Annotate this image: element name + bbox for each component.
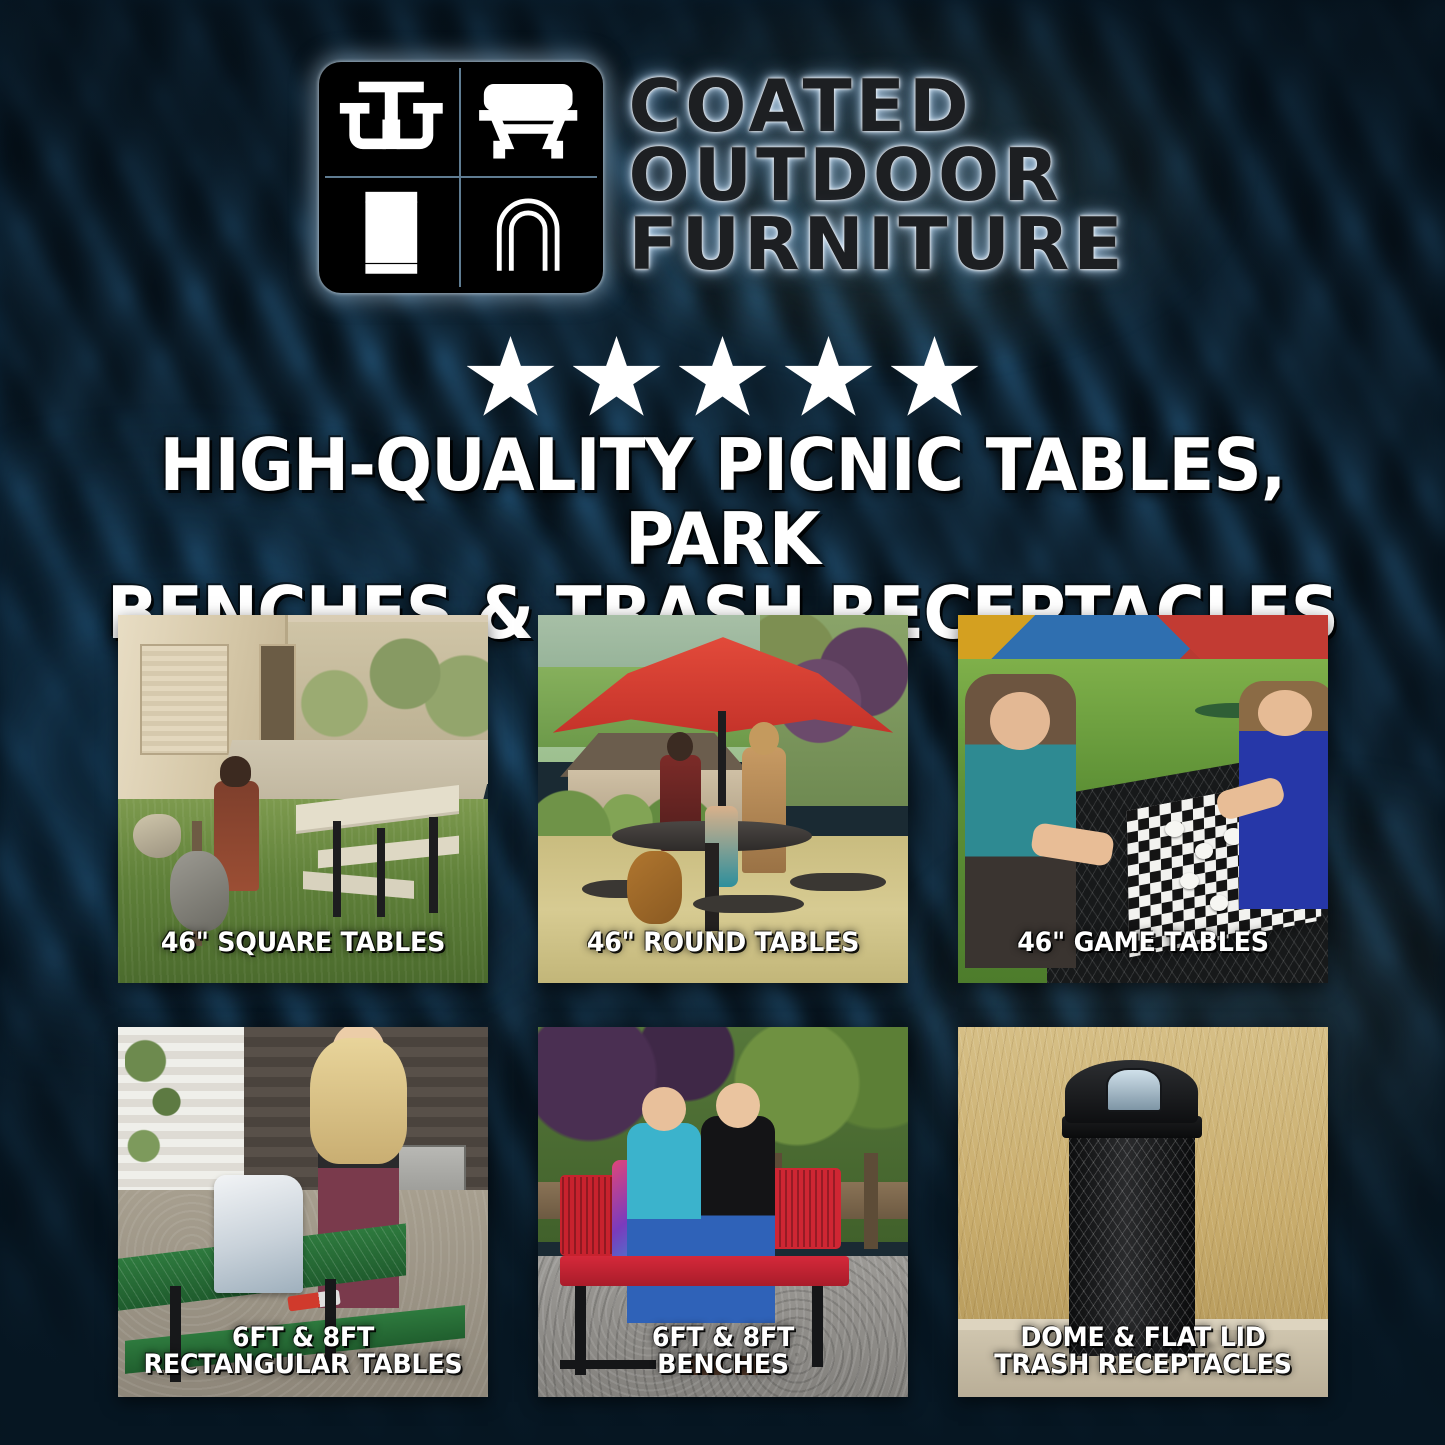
product-caption: 46" ROUND TABLES — [549, 929, 897, 957]
caption-line-1: DOME & FLAT LID — [969, 1324, 1317, 1352]
caption-line-1: 6FT & 8FT — [549, 1324, 897, 1352]
caption-line-2: TRASH RECEPTACLES — [969, 1351, 1317, 1379]
product-card-round-tables[interactable]: 46" ROUND TABLES — [538, 615, 908, 983]
caption-line-1: 46" GAME TABLES — [969, 929, 1317, 957]
product-caption: 46" SQUARE TABLES — [129, 929, 477, 957]
brand-name: COATED OUTDOOR FURNITURE — [629, 72, 1127, 279]
product-caption: 6FT & 8FT BENCHES — [549, 1324, 897, 1379]
star-icon — [891, 336, 979, 420]
product-grid: 46" SQUARE TABLES 46" ROUND TABLE — [118, 615, 1327, 1397]
product-caption: 6FT & 8FT RECTANGULAR TABLES — [129, 1324, 477, 1379]
caption-line-1: 46" ROUND TABLES — [549, 929, 897, 957]
picnic-table-icon — [325, 68, 461, 178]
product-caption: 46" GAME TABLES — [969, 929, 1317, 957]
caption-line-2: BENCHES — [549, 1351, 897, 1379]
star-rating — [0, 336, 1445, 420]
caption-line-2: RECTANGULAR TABLES — [129, 1351, 477, 1379]
brand-name-line-3: FURNITURE — [629, 210, 1127, 279]
promo-poster: COATED OUTDOOR FURNITURE HIGH-QUALITY PI… — [0, 0, 1445, 1445]
bench-icon — [461, 68, 597, 178]
product-card-square-tables[interactable]: 46" SQUARE TABLES — [118, 615, 488, 983]
dome-lid-icon — [461, 178, 597, 288]
product-caption: DOME & FLAT LID TRASH RECEPTACLES — [969, 1324, 1317, 1379]
caption-line-1: 6FT & 8FT — [129, 1324, 477, 1352]
brand-name-line-1: COATED — [629, 72, 973, 141]
product-card-trash-receptacles[interactable]: DOME & FLAT LID TRASH RECEPTACLES — [958, 1027, 1328, 1397]
product-card-game-tables[interactable]: 46" GAME TABLES — [958, 615, 1328, 983]
star-icon — [573, 336, 661, 420]
star-icon — [785, 336, 873, 420]
star-icon — [467, 336, 555, 420]
trash-receptacle-icon — [325, 178, 461, 288]
product-card-rectangular-tables[interactable]: 6FT & 8FT RECTANGULAR TABLES — [118, 1027, 488, 1397]
caption-line-1: 46" SQUARE TABLES — [129, 929, 477, 957]
logo-mark — [319, 62, 603, 293]
product-card-benches[interactable]: 6FT & 8FT BENCHES — [538, 1027, 908, 1397]
headline-line-1: HIGH-QUALITY PICNIC TABLES, PARK — [88, 428, 1357, 576]
brand-logo: COATED OUTDOOR FURNITURE — [0, 62, 1445, 293]
brand-name-line-2: OUTDOOR — [629, 141, 1063, 210]
star-icon — [679, 336, 767, 420]
